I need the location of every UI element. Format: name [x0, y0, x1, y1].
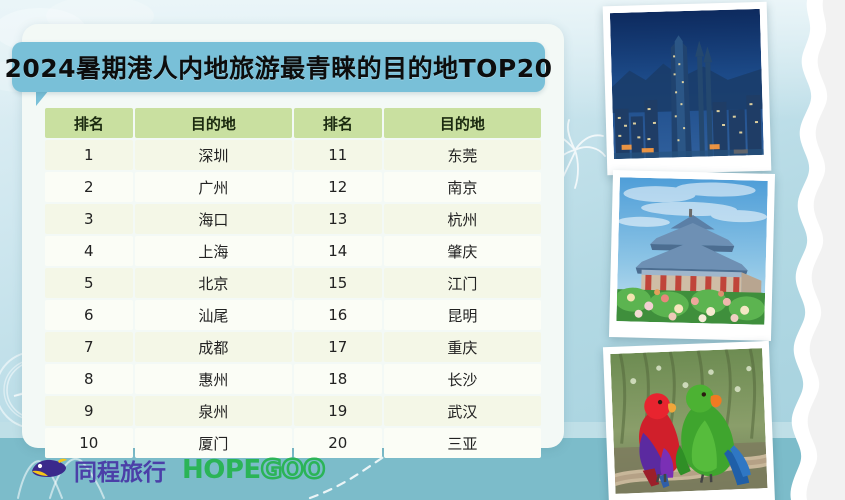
title-banner-tail [36, 90, 49, 106]
header-rank-right: 排名 [294, 108, 382, 138]
destination-cell: 汕尾 [135, 300, 292, 330]
photo-memorial-hall-flowers [609, 170, 775, 341]
rank-cell: 7 [45, 332, 133, 362]
table-row: 2 广州 12 南京 [45, 172, 541, 202]
destination-cell: 深圳 [135, 140, 292, 170]
rank-cell: 11 [294, 140, 382, 170]
header-rank-left: 排名 [45, 108, 133, 138]
rank-cell: 8 [45, 364, 133, 394]
destination-cell: 东莞 [384, 140, 541, 170]
tongcheng-logo[interactable]: 同程旅行 [28, 453, 166, 487]
destination-cell: 北京 [135, 268, 292, 298]
destination-cell: 惠州 [135, 364, 292, 394]
rank-cell: 6 [45, 300, 133, 330]
rank-cell: 14 [294, 236, 382, 266]
destination-cell: 上海 [135, 236, 292, 266]
destination-cell: 泉州 [135, 396, 292, 426]
table-row: 7 成都 17 重庆 [45, 332, 541, 362]
table-row: 9 泉州 19 武汉 [45, 396, 541, 426]
destination-cell: 海口 [135, 204, 292, 234]
rank-cell: 3 [45, 204, 133, 234]
destination-cell: 杭州 [384, 204, 541, 234]
table-row: 5 北京 15 江门 [45, 268, 541, 298]
rank-cell: 15 [294, 268, 382, 298]
tongcheng-logo-text: 同程旅行 [74, 453, 166, 487]
ranking-table: 排名 目的地 排名 目的地 1 深圳 11 东莞 2 广州 12 南京 3 海口… [45, 108, 541, 460]
hopegoo-logo[interactable]: HOPE GOO [182, 455, 325, 485]
photo-city-skyline-night [603, 2, 772, 176]
destination-cell: 昆明 [384, 300, 541, 330]
title-banner-wrap: 2024暑期港人内地旅游最青睐的目的地TOP20 [12, 42, 545, 92]
goose-bird-icon [28, 455, 68, 486]
rank-cell: 12 [294, 172, 382, 202]
photo-image-hall [616, 177, 767, 325]
hopegoo-solid-text: HOPE [182, 455, 261, 485]
table-row: 1 深圳 11 东莞 [45, 140, 541, 170]
table-row: 6 汕尾 16 昆明 [45, 300, 541, 330]
destination-cell: 三亚 [384, 428, 541, 458]
rank-cell: 9 [45, 396, 133, 426]
rank-cell: 17 [294, 332, 382, 362]
destination-cell: 广州 [135, 172, 292, 202]
page-title: 2024暑期港人内地旅游最青睐的目的地TOP20 [5, 49, 553, 85]
rank-cell: 16 [294, 300, 382, 330]
destination-cell: 江门 [384, 268, 541, 298]
rank-cell: 19 [294, 396, 382, 426]
footer-logos: 同程旅行 HOPE GOO [28, 450, 325, 490]
header-dest-left: 目的地 [135, 108, 292, 138]
destination-cell: 成都 [135, 332, 292, 362]
rank-cell: 2 [45, 172, 133, 202]
destination-cell: 南京 [384, 172, 541, 202]
header-dest-right: 目的地 [384, 108, 541, 138]
title-banner: 2024暑期港人内地旅游最青睐的目的地TOP20 [12, 42, 545, 92]
hopegoo-outline-text: GOO [261, 455, 325, 485]
destination-cell: 武汉 [384, 396, 541, 426]
destination-cell: 重庆 [384, 332, 541, 362]
rank-cell: 13 [294, 204, 382, 234]
torn-paper-edge [755, 0, 845, 500]
photo-image-parrots [610, 348, 767, 494]
table-row: 8 惠州 18 长沙 [45, 364, 541, 394]
infographic-canvas: 2024暑期港人内地旅游最青睐的目的地TOP20 排名 目的地 排名 目的地 1… [0, 0, 845, 500]
table-row: 3 海口 13 杭州 [45, 204, 541, 234]
rank-cell: 5 [45, 268, 133, 298]
photo-two-parrots [603, 341, 775, 500]
destination-cell: 长沙 [384, 364, 541, 394]
table-row: 4 上海 14 肇庆 [45, 236, 541, 266]
photo-image-city [610, 9, 764, 159]
rank-cell: 4 [45, 236, 133, 266]
rank-cell: 1 [45, 140, 133, 170]
destination-cell: 肇庆 [384, 236, 541, 266]
table-header-row: 排名 目的地 排名 目的地 [45, 108, 541, 138]
rank-cell: 18 [294, 364, 382, 394]
